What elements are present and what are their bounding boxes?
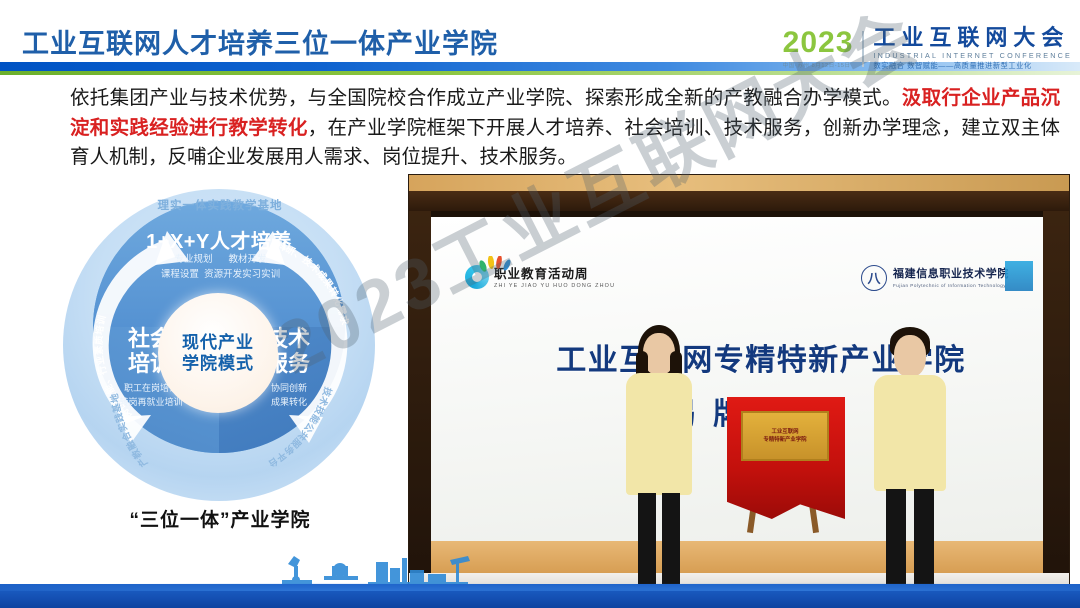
page-title: 工业互联网人才培养三位一体产业学院 [22,22,498,61]
diagram-subitems: 专业规划教材开发 课程设置 资源开发实习实训 [113,253,328,282]
blue-flag-decor [1005,261,1033,291]
vocational-education-week-logo: 职业教育活动周 ZHI YE JIAO YU HUO DONG ZHOU [465,265,615,289]
footer-wave [0,584,1080,608]
conference-year-subtitle: 中国·苏州 8月12日-15日 [783,61,854,69]
person-right-head [894,335,926,377]
photo-wall-left [409,211,431,591]
crane-icon [450,556,470,565]
header-divider-green [0,71,1080,75]
person-left [614,325,704,587]
conference-separator [862,31,864,67]
diagram-sub-r1c2: 教材开发 [229,254,267,265]
diagram-heading: 1+X+Y人才培养 [93,225,345,254]
diagram-subitems-row2: 课程设置 资源开发实习实训 [113,268,328,283]
school-logo-en: Fujian Polytechnic of Information Techno… [893,283,1009,288]
body-paragraph: 依托集团产业与技术优势，与全国院校合作成立产业学院、探索形成全新的产教融合办学模… [70,84,1060,173]
photo-ceiling-dark [409,191,1069,211]
school-logo-text: 福建信息职业技术学院 Fujian Polytechnic of Informa… [893,269,1009,288]
conference-name-cn: 工业互联网大会 [873,26,1072,49]
photo-wall-right [1043,211,1069,591]
conference-name-block: 工业互联网大会 INDUSTRIAL INTERNET CONFERENCE 数… [873,26,1072,71]
photo-ceiling-light [409,175,1069,191]
plaque-line1: 工业互联网 [772,428,799,436]
diagram-sub-r2c2: 资源开发实习实训 [204,269,280,280]
unveiled-plaque: 工业互联网 专精特新产业学院 [741,411,829,461]
spiral-icon [465,265,489,289]
person-left-torso [626,373,692,495]
diagram-caption: “三位一体”产业学院 [55,505,385,532]
diagram-arc-top-label: 理实一体实践教学基地 [55,197,385,213]
diagram-sub-r1c1: 专业规划 [174,254,212,265]
person-right-torso [874,375,946,491]
conference-year-block: 2023 中国·苏州 8月12日-15日 [783,28,854,69]
person-right-leg-r [914,489,934,587]
diagram-core-line1: 现代产业 [182,332,254,353]
vocational-logo-en: ZHI YE JIAO YU HUO DONG ZHOU [494,283,615,289]
school-seal-icon: 八 [861,265,887,291]
person-right-leg-l [886,489,906,587]
plaque-line2: 专精特新产业学院 [763,436,806,444]
diagram-subitems-row1: 专业规划教材开发 [113,253,328,268]
diagram-sub-r2c1: 课程设置 [161,269,199,280]
school-logo-cn: 福建信息职业技术学院 [893,269,1009,280]
body-segment-1: 依托集团产业与技术优势，与全国院校合作成立产业学院、探索形成全新的产教融合办学模… [70,87,902,109]
conference-year: 2023 [783,28,854,58]
person-left-leg-r [662,493,680,587]
conference-name-en: INDUSTRIAL INTERNET CONFERENCE [873,51,1072,60]
person-right [864,327,956,587]
person-left-leg-l [638,493,656,587]
conference-tagline: 数实融合 数智赋能——高质量推进新型工业化 [873,61,1072,71]
slide-root: 工业互联网人才培养三位一体产业学院 2023 中国·苏州 8月12日-15日 工… [0,0,1080,608]
conference-logo: 2023 中国·苏州 8月12日-15日 工业互联网大会 INDUSTRIAL … [783,26,1072,71]
diagram-core-line2: 学院模式 [182,353,254,374]
ceremony-photo: 职业教育活动周 ZHI YE JIAO YU HUO DONG ZHOU 八 福… [408,174,1070,592]
school-logo: 八 福建信息职业技术学院 Fujian Polytechnic of Infor… [861,265,1009,291]
trinity-industry-college-diagram: 岗位技能、行业素质培训 产教融合实践基地 科研、技术成果转化需求 技术技能公共服… [55,185,385,505]
diagram-core: 现代产业 学院模式 [158,293,278,413]
petals-icon [477,256,513,272]
